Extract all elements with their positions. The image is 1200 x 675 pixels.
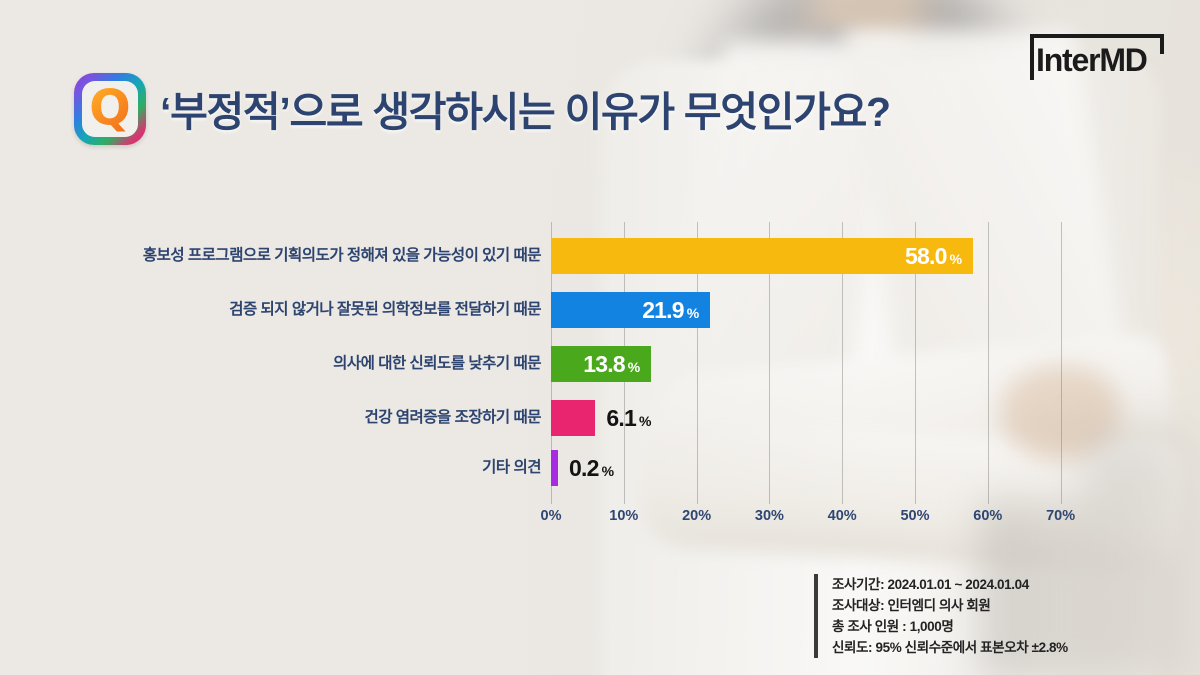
x-axis-tick-label: 30% — [755, 508, 784, 524]
bar-value-unit: % — [639, 413, 651, 429]
chart-row: 기타 의견0.2% — [0, 450, 1200, 486]
methodology-line: 총 조사 인원 : 1,000명 — [832, 616, 1068, 637]
bar-category-label: 검증 되지 않거나 잘못된 의학정보를 전달하기 때문 — [229, 292, 541, 328]
bar-category-label: 기타 의견 — [482, 450, 541, 486]
bar — [551, 450, 558, 486]
bar-value-unit: % — [628, 359, 640, 375]
bar-value-number: 13.8 — [583, 351, 625, 377]
bar-value-unit: % — [602, 463, 614, 479]
bar-value-number: 58.0 — [905, 243, 947, 269]
chart-row: 건강 염려증을 조장하기 때문6.1% — [0, 400, 1200, 436]
methodology-line: 신뢰도: 95% 신뢰수준에서 표본오차 ±2.8% — [832, 637, 1068, 658]
bar-value-unit: % — [950, 251, 962, 267]
bar-value-label: 21.9% — [624, 292, 698, 328]
survey-methodology-note: 조사기간: 2024.01.01 ~ 2024.01.04조사대상: 인터엠디 … — [814, 574, 1068, 658]
chart-row: 의사에 대한 신뢰도를 낮추기 때문13.8% — [0, 346, 1200, 382]
chart-row: 홍보성 프로그램으로 기획의도가 정해져 있을 가능성이 있기 때문58.0% — [0, 238, 1200, 274]
methodology-line: 조사대상: 인터엠디 의사 회원 — [832, 595, 1068, 616]
x-axis-tick-label: 50% — [900, 508, 929, 524]
x-axis-tick-label: 10% — [609, 508, 638, 524]
bar-category-label: 홍보성 프로그램으로 기획의도가 정해져 있을 가능성이 있기 때문 — [143, 238, 541, 274]
x-axis-tick-label: 70% — [1046, 508, 1075, 524]
bar-value-label: 0.2% — [569, 450, 613, 486]
bar-value-label: 58.0% — [887, 238, 961, 274]
bar — [551, 400, 595, 436]
bar-value-label: 6.1% — [606, 400, 650, 436]
bar-value-number: 21.9 — [642, 297, 684, 323]
x-axis-tick-label: 40% — [828, 508, 857, 524]
bar-value-label: 13.8% — [565, 346, 639, 382]
bar-value-number: 0.2 — [569, 455, 599, 481]
x-axis-tick-label: 60% — [973, 508, 1002, 524]
bar-category-label: 건강 염려증을 조장하기 때문 — [364, 400, 541, 436]
bar-value-number: 6.1 — [606, 405, 636, 431]
x-axis-tick-label: 20% — [682, 508, 711, 524]
x-axis-tick-label: 0% — [541, 508, 562, 524]
bar-value-unit: % — [687, 305, 699, 321]
methodology-line: 조사기간: 2024.01.01 ~ 2024.01.04 — [832, 574, 1068, 595]
bar-category-label: 의사에 대한 신뢰도를 낮추기 때문 — [333, 346, 541, 382]
chart-row: 검증 되지 않거나 잘못된 의학정보를 전달하기 때문21.9% — [0, 292, 1200, 328]
